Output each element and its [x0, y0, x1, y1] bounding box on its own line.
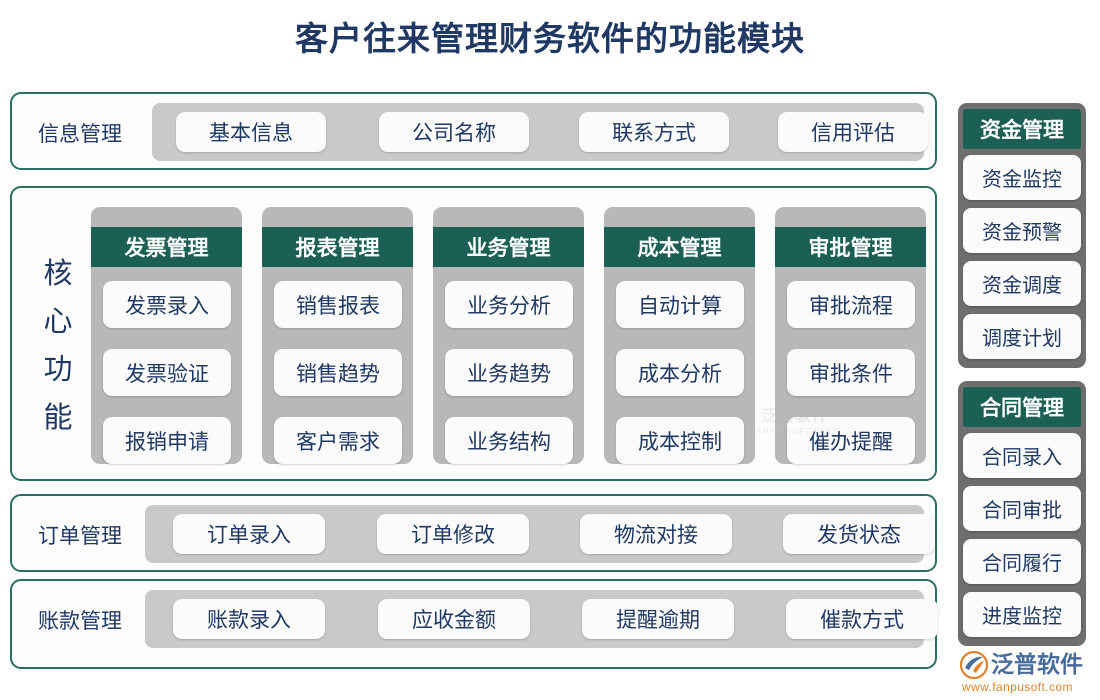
- side-panel-header-0: 资金管理: [963, 109, 1081, 149]
- payment-management-card: 账款管理 账款录入 应收金额 提醒逾期 催款方式: [10, 579, 937, 669]
- core-item-4-2[interactable]: 催办提醒: [787, 417, 915, 464]
- side-item-0-1[interactable]: 资金预警: [963, 208, 1081, 253]
- core-item-0-1[interactable]: 发票验证: [103, 349, 231, 396]
- core-label-char-1: 心: [36, 298, 80, 346]
- order-item-2[interactable]: 物流对接: [580, 514, 732, 554]
- core-item-2-1[interactable]: 业务趋势: [445, 349, 573, 396]
- side-panel-contract: 合同管理 合同录入 合同审批 合同履行 进度监控: [958, 381, 1086, 646]
- side-panel-fund: 资金管理 资金监控 资金预警 资金调度 调度计划: [958, 103, 1086, 368]
- core-item-2-0[interactable]: 业务分析: [445, 281, 573, 328]
- core-item-3-1[interactable]: 成本分析: [616, 349, 744, 396]
- payment-item-1[interactable]: 应收金额: [378, 599, 530, 639]
- side-item-1-1[interactable]: 合同审批: [963, 486, 1081, 531]
- fanpu-logo-icon: [960, 651, 988, 679]
- core-label-char-0: 核: [36, 250, 80, 298]
- core-item-4-0[interactable]: 审批流程: [787, 281, 915, 328]
- side-item-0-3[interactable]: 调度计划: [963, 314, 1081, 359]
- info-item-0[interactable]: 基本信息: [176, 112, 326, 152]
- core-column-header-4: 审批管理: [775, 227, 926, 267]
- payment-management-label: 账款管理: [20, 599, 140, 641]
- info-management-card: 信息管理 基本信息 公司名称 联系方式 信用评估: [10, 92, 937, 170]
- core-item-2-2[interactable]: 业务结构: [445, 417, 573, 464]
- core-item-3-0[interactable]: 自动计算: [616, 281, 744, 328]
- order-management-card: 订单管理 订单录入 订单修改 物流对接 发货状态: [10, 494, 937, 572]
- payment-item-0[interactable]: 账款录入: [173, 599, 325, 639]
- core-item-0-0[interactable]: 发票录入: [103, 281, 231, 328]
- core-item-1-1[interactable]: 销售趋势: [274, 349, 402, 396]
- info-item-3[interactable]: 信用评估: [778, 112, 928, 152]
- order-item-3[interactable]: 发货状态: [783, 514, 935, 554]
- core-column-report: 报表管理 销售报表 销售趋势 客户需求: [262, 207, 413, 464]
- page-title: 客户往来管理财务软件的功能模块: [0, 18, 1100, 62]
- core-column-header-1: 报表管理: [262, 227, 413, 267]
- core-function-label: 核 心 功 能: [36, 250, 80, 442]
- side-item-1-0[interactable]: 合同录入: [963, 433, 1081, 478]
- side-panel-header-1: 合同管理: [963, 387, 1081, 427]
- core-column-business: 业务管理 业务分析 业务趋势 业务结构: [433, 207, 584, 464]
- brand-logo-text: 泛普软件: [991, 651, 1083, 679]
- core-label-char-2: 功: [36, 346, 80, 394]
- core-label-char-3: 能: [36, 394, 80, 442]
- core-item-3-2[interactable]: 成本控制: [616, 417, 744, 464]
- core-column-header-3: 成本管理: [604, 227, 755, 267]
- core-column-header-0: 发票管理: [91, 227, 242, 267]
- core-column-header-2: 业务管理: [433, 227, 584, 267]
- info-item-1[interactable]: 公司名称: [379, 112, 529, 152]
- payment-item-3[interactable]: 催款方式: [786, 599, 938, 639]
- core-item-0-2[interactable]: 报销申请: [103, 417, 231, 464]
- info-management-label: 信息管理: [20, 112, 140, 154]
- order-item-0[interactable]: 订单录入: [173, 514, 325, 554]
- core-item-1-0[interactable]: 销售报表: [274, 281, 402, 328]
- core-column-cost: 成本管理 自动计算 成本分析 成本控制: [604, 207, 755, 464]
- side-item-0-2[interactable]: 资金调度: [963, 261, 1081, 306]
- core-item-1-2[interactable]: 客户需求: [274, 417, 402, 464]
- side-item-1-2[interactable]: 合同履行: [963, 539, 1081, 584]
- order-item-1[interactable]: 订单修改: [377, 514, 529, 554]
- core-function-card: 核 心 功 能 发票管理 发票录入 发票验证 报销申请 报表管理 销售报表 销售…: [10, 186, 937, 481]
- brand-logo-row: 泛普软件: [960, 650, 1100, 680]
- side-item-0-0[interactable]: 资金监控: [963, 155, 1081, 200]
- payment-item-2[interactable]: 提醒逾期: [582, 599, 734, 639]
- brand-logo-url: www.fanpusoft.com: [960, 680, 1100, 694]
- side-item-1-3[interactable]: 进度监控: [963, 592, 1081, 637]
- info-item-2[interactable]: 联系方式: [579, 112, 729, 152]
- brand-logo: 泛普软件 www.fanpusoft.com: [960, 650, 1100, 696]
- core-column-invoice: 发票管理 发票录入 发票验证 报销申请: [91, 207, 242, 464]
- order-management-label: 订单管理: [20, 514, 140, 556]
- core-column-approval: 审批管理 审批流程 审批条件 催办提醒: [775, 207, 926, 464]
- core-item-4-1[interactable]: 审批条件: [787, 349, 915, 396]
